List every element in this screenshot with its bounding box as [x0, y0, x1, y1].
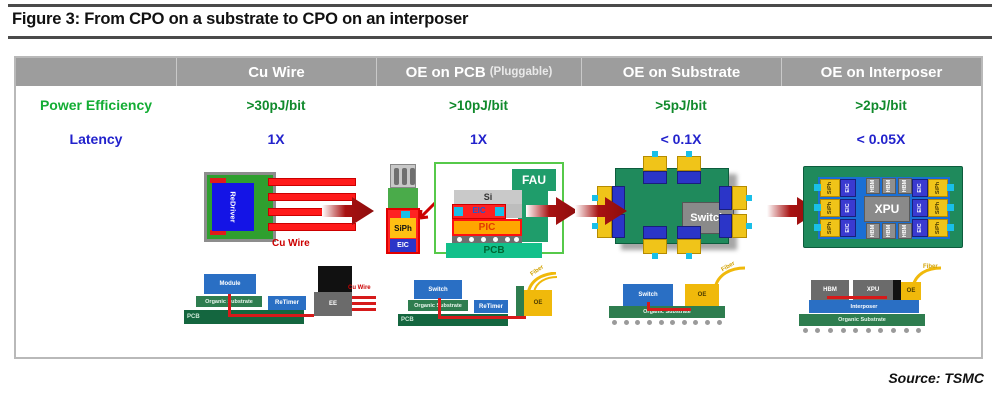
- siph-block: SiPh: [820, 199, 840, 217]
- eic-block: EIC: [840, 179, 856, 197]
- siph-block: [732, 186, 747, 210]
- photo-oe-on-interposer: Organic Substrate Interposer HBM XPU OE …: [781, 258, 981, 357]
- eic-label: EIC: [453, 206, 505, 215]
- cu-wire-package: ReDriver: [204, 172, 276, 242]
- photo-interposer: Interposer: [809, 300, 919, 313]
- hbm-label: HBM: [886, 225, 892, 238]
- photo-band: PCB Organic Substrate Module ReTimer EE …: [16, 258, 981, 357]
- row-power-efficiency: Power Efficiency >30pJ/bit >10pJ/bit >5p…: [16, 90, 981, 120]
- eic-label: EIC: [917, 223, 923, 232]
- siph-eic-module: SiPh EIC: [912, 199, 948, 217]
- header-cell-oe-on-substrate: OE on Substrate: [581, 58, 781, 86]
- caption-rule-bottom: [8, 36, 992, 39]
- photo-pcb: PCB: [184, 310, 304, 324]
- photo-link-trace: [438, 316, 526, 319]
- photo-cu-wire-trace: [352, 296, 376, 299]
- hbm-label: HBM: [870, 225, 876, 238]
- siph-eic-module: [643, 226, 667, 254]
- optical-port-icon: [947, 204, 954, 211]
- plug-connector: [390, 164, 416, 188]
- photo-cu-wire: PCB Organic Substrate Module ReTimer EE …: [176, 258, 376, 357]
- siph-block: SiPh: [820, 179, 840, 197]
- header-cell-oe-on-pcb: OE on PCB (Pluggable): [376, 58, 581, 86]
- hbm-stack: HBM: [882, 223, 896, 239]
- photo-link-trace: [228, 294, 231, 314]
- row-label-latency: Latency: [16, 124, 176, 154]
- photo-asic: EE: [314, 292, 352, 316]
- cell-power-oe-pcb: >10pJ/bit: [376, 90, 581, 120]
- figure-caption: Figure 3: From CPO on a substrate to CPO…: [12, 10, 972, 29]
- siph-eic-module: [677, 156, 701, 184]
- eic-block: [719, 214, 732, 238]
- optical-port-icon: [814, 184, 821, 191]
- pcb-label: PCB: [446, 243, 542, 258]
- cu-wire-redriver-label: ReDriver: [229, 191, 238, 222]
- eic-label: EIC: [845, 223, 851, 232]
- diagram-oe-on-interposer: XPU HBM HBM HBM HBM HBM HBM SiPh EIC SiP…: [781, 158, 981, 258]
- pic-label: PIC: [452, 219, 522, 236]
- table-header-row: Cu Wire OE on PCB (Pluggable) OE on Subs…: [16, 58, 981, 86]
- photo-link-trace: [438, 298, 441, 316]
- fau-label: FAU: [512, 169, 556, 191]
- substrate-board: Switch: [615, 168, 729, 244]
- siph-block: [643, 156, 667, 171]
- hbm-label: HBM: [886, 180, 892, 193]
- siph-label: SiPh: [827, 202, 833, 214]
- comparison-table: Cu Wire OE on PCB (Pluggable) OE on Subs…: [14, 56, 983, 359]
- eic-block: EIC: [912, 179, 928, 197]
- siph-label: SiPh: [935, 182, 941, 194]
- photo-link-trace: [827, 296, 887, 299]
- eic-label: EIC: [845, 183, 851, 192]
- plug-siph-label: SiPh: [390, 218, 416, 238]
- header-title: OE on Interposer: [821, 64, 943, 81]
- pluggable-module: SiPh EIC: [386, 164, 420, 254]
- eic-block: [677, 226, 701, 239]
- optical-port-icon: [652, 151, 658, 157]
- cell-power-cu-wire: >30pJ/bit: [176, 90, 376, 120]
- siph-eic-module: [719, 186, 747, 210]
- optical-port-icon: [814, 204, 821, 211]
- eic-block: EIC: [912, 219, 928, 237]
- hbm-stack: HBM: [898, 178, 912, 194]
- siph-eic-module: SiPh EIC: [912, 179, 948, 197]
- transition-arrow-3: [575, 196, 627, 226]
- plug-eic-label: EIC: [390, 239, 416, 252]
- photo-link-trace: [228, 314, 314, 317]
- header-cell-blank: [16, 58, 176, 86]
- photo-cu-wire-trace: [352, 308, 376, 311]
- siph-block: SiPh: [928, 179, 948, 197]
- siph-eic-module: SiPh EIC: [820, 179, 856, 197]
- siph-eic-module: [643, 156, 667, 184]
- photo-bga-balls: [609, 318, 725, 326]
- siph-block: [732, 214, 747, 238]
- photo-link-trace: [647, 308, 691, 311]
- xpu-die-label: XPU: [864, 196, 910, 222]
- interposer-layer: XPU HBM HBM HBM HBM HBM HBM SiPh EIC SiP…: [818, 177, 950, 239]
- eic-label: EIC: [917, 183, 923, 192]
- hbm-stack: HBM: [898, 223, 912, 239]
- photo-retimer: ReTimer: [268, 296, 306, 310]
- cell-power-oe-substrate: >5pJ/bit: [581, 90, 781, 120]
- eic-block: EIC: [912, 199, 928, 217]
- siph-block: SiPh: [928, 219, 948, 237]
- eic-block: [643, 171, 667, 184]
- eic-block: [677, 171, 701, 184]
- header-subtitle: (Pluggable): [490, 66, 553, 78]
- cell-latency-cu-wire: 1X: [176, 124, 376, 154]
- photo-cu-wire-label: Cu Wire: [348, 285, 371, 291]
- header-title: Cu Wire: [248, 64, 305, 81]
- header-title: OE on Substrate: [623, 64, 741, 81]
- optical-port-icon: [746, 223, 752, 229]
- bga-balls: [452, 236, 522, 243]
- siph-block: [677, 239, 701, 254]
- photo-oe-on-pcb: PCB Organic Substrate Switch ReTimer OE …: [376, 258, 581, 357]
- optical-port-icon: [947, 184, 954, 191]
- photo-cu-wire-trace: [352, 302, 376, 305]
- cu-wire-redriver-die: ReDriver: [212, 183, 254, 231]
- cu-wire-caption: Cu Wire: [272, 238, 310, 249]
- siph-eic-module: [719, 214, 747, 238]
- photo-asic-black: [318, 266, 352, 292]
- siph-eic-module: [677, 226, 701, 254]
- transition-arrow-1: [322, 196, 374, 226]
- interposer-package: XPU HBM HBM HBM HBM HBM HBM SiPh EIC SiP…: [803, 166, 963, 248]
- hbm-label: HBM: [902, 180, 908, 193]
- optical-port-icon: [686, 151, 692, 157]
- diagram-oe-on-substrate: Switch: [581, 158, 781, 258]
- row-label-power-efficiency: Power Efficiency: [16, 90, 176, 120]
- siph-eic-module: SiPh EIC: [912, 219, 948, 237]
- siph-block: SiPh: [820, 219, 840, 237]
- cell-power-oe-interposer: >2pJ/bit: [781, 90, 981, 120]
- siph-eic-module: SiPh EIC: [820, 219, 856, 237]
- plug-body: SiPh EIC: [386, 208, 420, 254]
- siph-block: SiPh: [928, 199, 948, 217]
- plug-pcb-green: [388, 188, 418, 210]
- eic-label: EIC: [917, 203, 923, 212]
- hbm-stack: HBM: [866, 178, 880, 194]
- cell-latency-oe-pcb: 1X: [376, 124, 581, 154]
- siph-label: SiPh: [935, 202, 941, 214]
- eic-block: EIC: [452, 204, 506, 219]
- siph-block: [643, 239, 667, 254]
- illustration-band: ReDriver Cu Wire SiPh: [16, 158, 981, 258]
- photo-switch: Switch: [414, 280, 462, 299]
- eic-block: [643, 226, 667, 239]
- siph-block: [677, 156, 701, 171]
- diagram-cu-wire: ReDriver Cu Wire: [176, 158, 376, 258]
- optical-port-icon: [947, 224, 954, 231]
- hbm-stack: HBM: [882, 178, 896, 194]
- photo-substrate: Organic Substrate: [799, 314, 925, 326]
- optical-port-icon: [746, 195, 752, 201]
- header-cell-cu-wire: Cu Wire: [176, 58, 376, 86]
- hbm-label: HBM: [870, 180, 876, 193]
- eic-label: EIC: [845, 203, 851, 212]
- transition-arrow-2: [526, 196, 578, 226]
- photo-oe-on-substrate: Organic Substrate Switch OE Fiber: [581, 258, 781, 357]
- siph-label: SiPh: [935, 222, 941, 234]
- header-title: OE on PCB: [406, 64, 486, 81]
- siph-eic-module: SiPh EIC: [820, 199, 856, 217]
- photo-heat-wall: [516, 286, 524, 316]
- caption-rule-top: [8, 4, 992, 7]
- hbm-stack: HBM: [866, 223, 880, 239]
- plug-optical-port-icon: [401, 211, 410, 218]
- eic-block: EIC: [840, 199, 856, 217]
- photo-retimer: ReTimer: [474, 300, 508, 313]
- diagram-oe-on-pcb: SiPh EIC FAU Si EIC PIC: [376, 158, 581, 258]
- photo-divider: [893, 280, 901, 300]
- siph-label: SiPh: [827, 182, 833, 194]
- header-cell-oe-on-interposer: OE on Interposer: [781, 58, 981, 86]
- cell-latency-oe-interposer: < 0.05X: [781, 124, 981, 154]
- siph-label: SiPh: [827, 222, 833, 234]
- photo-fiber-label: Fiber: [923, 264, 938, 270]
- si-label: Si: [454, 190, 522, 204]
- hbm-label: HBM: [902, 225, 908, 238]
- photo-bga-balls: [799, 326, 925, 334]
- optical-port-icon: [814, 224, 821, 231]
- cell-latency-oe-substrate: < 0.1X: [581, 124, 781, 154]
- photo-fiber-icon: [524, 272, 558, 294]
- photo-module: Module: [204, 274, 256, 294]
- eic-block: EIC: [840, 219, 856, 237]
- row-latency: Latency 1X 1X < 0.1X < 0.05X: [16, 124, 981, 154]
- source-note: Source: TSMC: [888, 370, 984, 386]
- eic-block: [719, 186, 732, 210]
